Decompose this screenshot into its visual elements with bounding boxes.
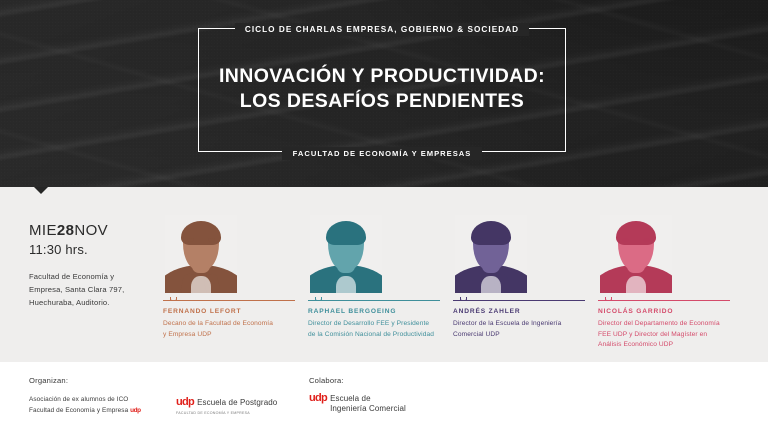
udp-logo-mark: udp <box>130 407 141 414</box>
speaker-divider <box>453 297 585 303</box>
udp-logo-mark: udp <box>309 393 327 404</box>
speaker-divider <box>598 297 730 303</box>
speaker-card: RAPHAEL BERGOEING Director de Desarrollo… <box>308 215 454 340</box>
venue-line-3: Huechuraba, Auditorio. <box>29 296 159 309</box>
speaker-card: NICOLÁS GARRIDO Director del Departament… <box>598 215 744 351</box>
speaker-photo <box>310 215 382 293</box>
speaker-role: Director del Departamento de Economía FE… <box>598 319 744 351</box>
speaker-role: Decano de la Facultad de Economía y Empr… <box>163 319 309 340</box>
speaker-role-line-3: Análisis Económico UDP <box>598 340 744 351</box>
speaker-card: FERNANDO LEFORT Decano de la Facultad de… <box>163 215 309 340</box>
organizers-line-1: Asociación de ex alumnos de ICO <box>29 395 141 406</box>
event-day-abbrev: MIE <box>29 222 57 239</box>
chevron-down-icon <box>170 297 177 301</box>
event-venue: Facultad de Economía y Empresa, Santa Cl… <box>29 270 159 310</box>
postgrado-logo-label: Escuela de Postgrado <box>197 398 277 408</box>
event-month: NOV <box>74 222 108 239</box>
chevron-down-icon <box>460 297 467 301</box>
collaborator-label: Colabora: <box>309 376 406 385</box>
header-kicker-text: CICLO DE CHARLAS EMPRESA, GOBIERNO & SOC… <box>235 23 529 36</box>
speaker-role-line-1: Director de la Escuela de Ingeniería <box>453 319 599 330</box>
chevron-down-icon <box>605 297 612 301</box>
event-details: MIE28NOV 11:30 hrs. Facultad de Economía… <box>29 222 159 310</box>
header-kicker: CICLO DE CHARLAS EMPRESA, GOBIERNO & SOC… <box>198 19 566 37</box>
collaborator-logo-line-1: Escuela de <box>330 394 371 403</box>
poster-body: MIE28NOV 11:30 hrs. Facultad de Economía… <box>0 187 768 362</box>
speaker-role-line-1: Director de Desarrollo FEE y Presidente <box>308 319 454 330</box>
speaker-name: NICOLÁS GARRIDO <box>598 308 744 315</box>
speaker-portrait-illustration <box>600 215 672 293</box>
udp-ingenieria-logo: udp Escuela deIngeniería Comercial <box>309 394 406 414</box>
speaker-portrait-illustration <box>310 215 382 293</box>
title-line-1: INNOVACIÓN Y PRODUCTIVIDAD: <box>219 64 545 89</box>
speaker-name: RAPHAEL BERGOEING <box>308 308 454 315</box>
header-faculty-band: FACULTAD DE ECONOMÍA Y EMPRESAS <box>198 143 566 161</box>
organizers-line-2-text: Facultad de Economía y Empresa <box>29 407 128 414</box>
poster-footer: Organizan: Asociación de ex alumnos de I… <box>0 362 768 432</box>
postgrado-logo-tagline: FACULTAD DE ECONOMÍA Y EMPRESA <box>176 411 277 415</box>
event-date: MIE28NOV <box>29 222 159 240</box>
postgrado-logo-block: udp Escuela de Postgrado FACULTAD DE ECO… <box>176 398 277 415</box>
event-day-number: 28 <box>57 222 75 239</box>
collaborator-logo-label: Escuela deIngeniería Comercial <box>330 394 406 414</box>
venue-line-2: Empresa, Santa Clara 797, <box>29 283 159 296</box>
speaker-card: ANDRÉS ZAHLER Director de la Escuela de … <box>453 215 599 340</box>
collaborator-logo-line-2: Ingeniería Comercial <box>330 404 406 413</box>
chevron-down-icon <box>315 297 322 301</box>
udp-logo-mark: udp <box>176 397 194 408</box>
speaker-photo <box>165 215 237 293</box>
speaker-photo <box>600 215 672 293</box>
header-notch-triangle <box>34 187 48 194</box>
speaker-portrait-illustration <box>455 215 527 293</box>
speaker-role-line-2: de la Comisión Nacional de Productividad <box>308 330 454 341</box>
speaker-name: FERNANDO LEFORT <box>163 308 309 315</box>
collaborator-block: Colabora: udp Escuela deIngeniería Comer… <box>309 376 406 414</box>
udp-postgrado-logo: udp Escuela de Postgrado <box>176 398 277 408</box>
event-time: 11:30 hrs. <box>29 242 159 257</box>
speaker-role-line-1: Decano de la Facultad de Economía <box>163 319 309 330</box>
organizers-block: Organizan: Asociación de ex alumnos de I… <box>29 376 141 416</box>
speaker-role: Director de la Escuela de Ingeniería Com… <box>453 319 599 340</box>
organizers-text: Asociación de ex alumnos de ICO Facultad… <box>29 395 141 416</box>
header-faculty-text: FACULTAD DE ECONOMÍA Y EMPRESAS <box>282 147 483 160</box>
organizers-line-2: Facultad de Economía y Empresa udp <box>29 406 141 417</box>
speaker-role: Director de Desarrollo FEE y Presidente … <box>308 319 454 340</box>
page-title: INNOVACIÓN Y PRODUCTIVIDAD: LOS DESAFÍOS… <box>198 28 566 152</box>
title-line-2: LOS DESAFÍOS PENDIENTES <box>240 89 524 114</box>
speaker-role-line-1: Director del Departamento de Economía <box>598 319 744 330</box>
speakers-list: FERNANDO LEFORT Decano de la Facultad de… <box>163 215 760 345</box>
venue-line-1: Facultad de Economía y <box>29 270 159 283</box>
speaker-portrait-illustration <box>165 215 237 293</box>
speaker-name: ANDRÉS ZAHLER <box>453 308 599 315</box>
speaker-divider <box>308 297 440 303</box>
organizers-label: Organizan: <box>29 376 141 385</box>
speaker-role-line-2: FEE UDP y Director del Magíster en <box>598 330 744 341</box>
speaker-role-line-2: Comercial UDP <box>453 330 599 341</box>
speaker-divider <box>163 297 295 303</box>
poster-header: CICLO DE CHARLAS EMPRESA, GOBIERNO & SOC… <box>0 0 768 187</box>
speaker-role-line-2: y Empresa UDP <box>163 330 309 341</box>
speaker-photo <box>455 215 527 293</box>
